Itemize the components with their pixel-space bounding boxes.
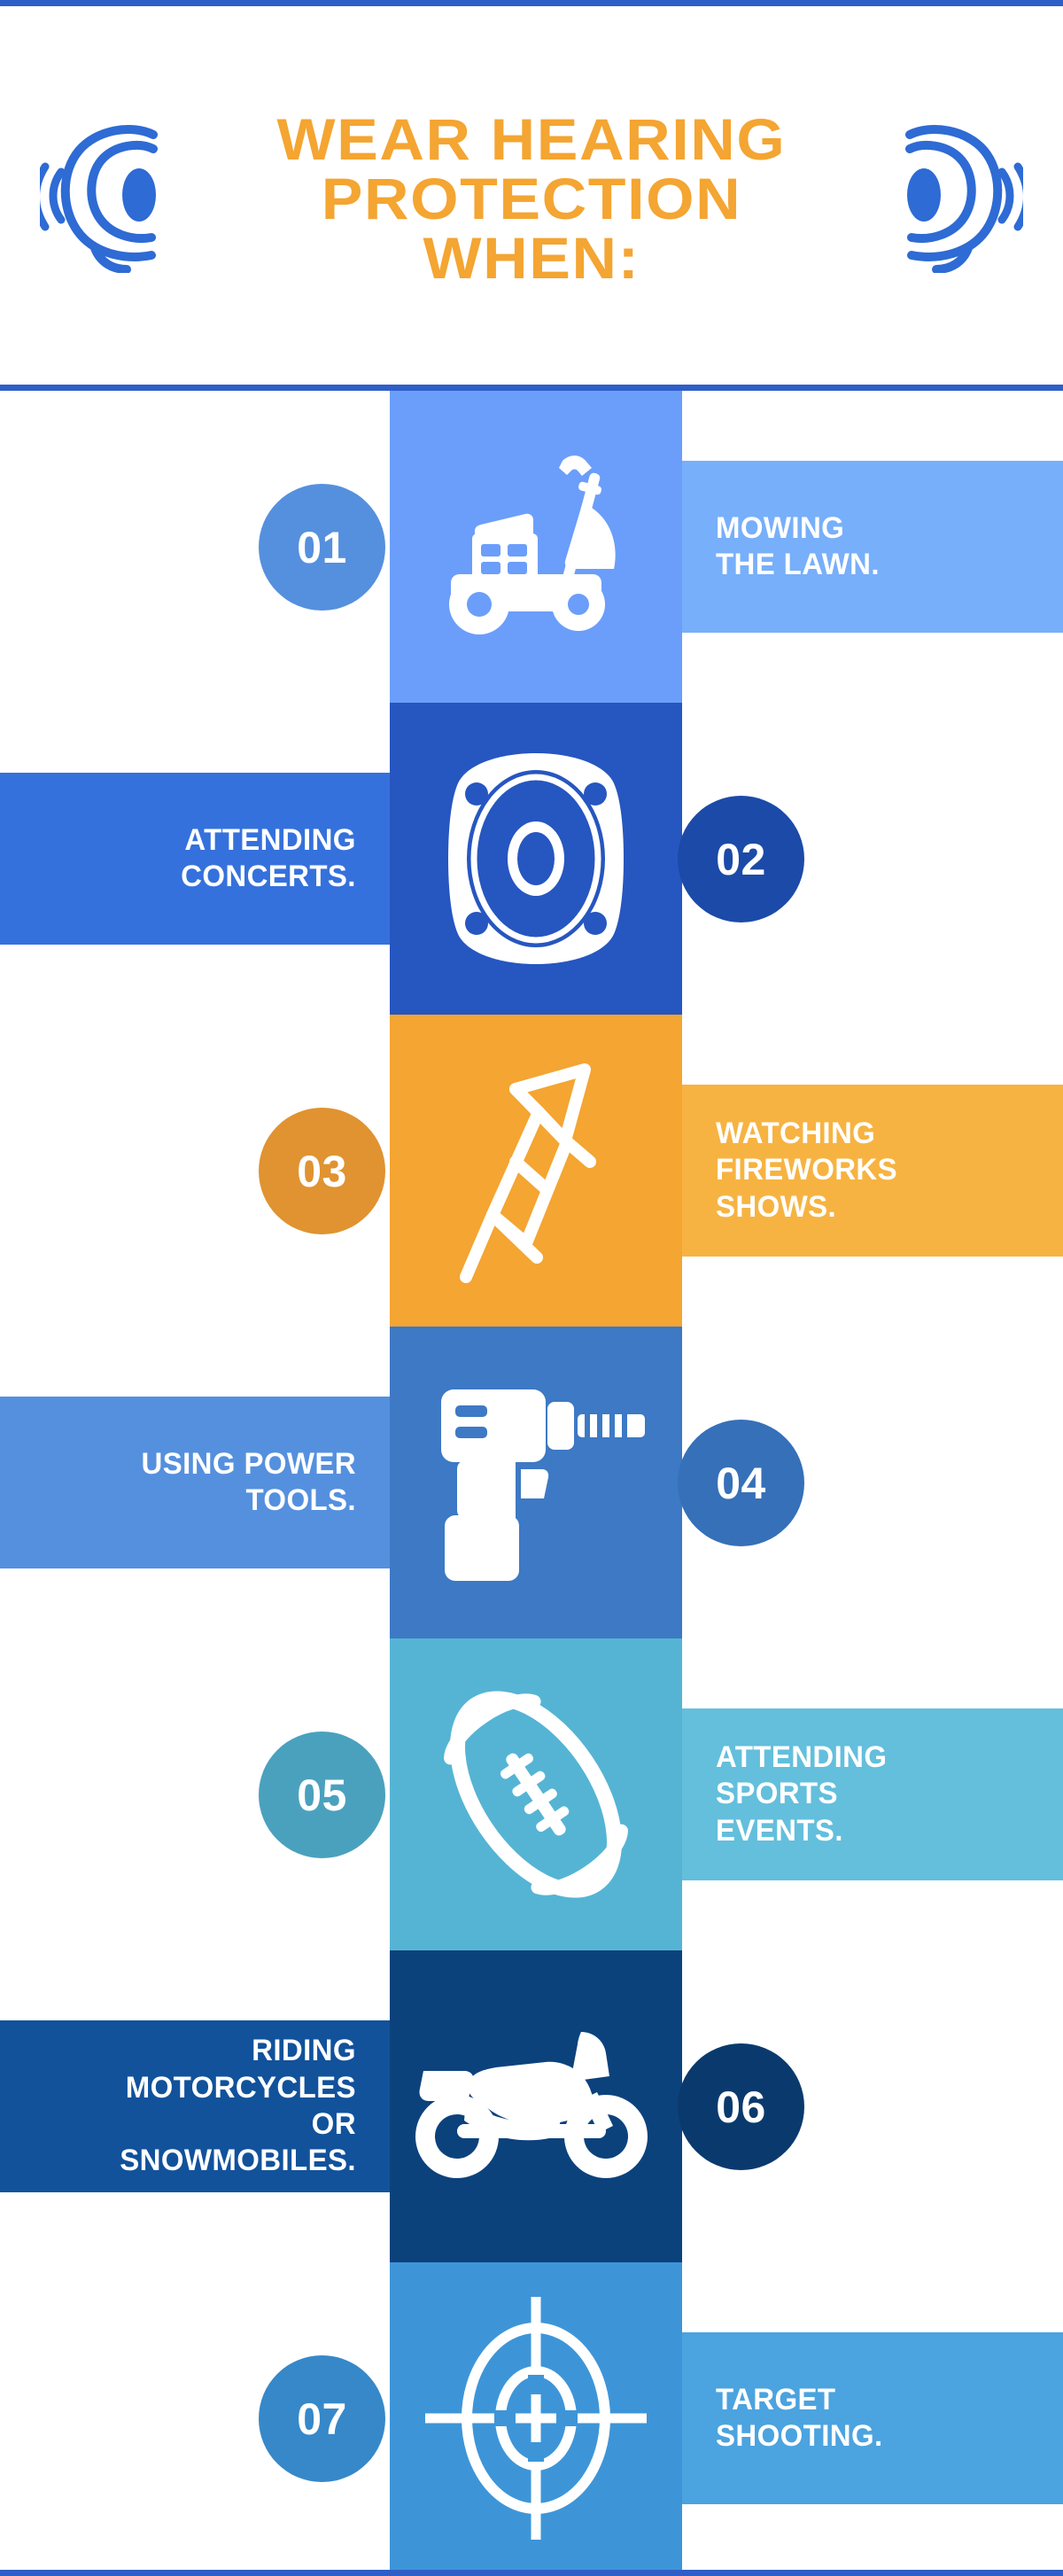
- row-label-band: USING POWER TOOLS.: [0, 1397, 390, 1568]
- power-drill-icon: [403, 1350, 669, 1615]
- row-label: WATCHING FIREWORKS SHOWS.: [716, 1116, 897, 1226]
- step-number: 03: [297, 1146, 347, 1197]
- row-label: USING POWER TOOLS.: [142, 1446, 356, 1520]
- list-item: 07 TARGET SHOOTING.: [0, 2262, 1063, 2574]
- step-number: 05: [297, 1770, 347, 1821]
- row-label-line: WATCHING: [716, 1116, 897, 1152]
- row-label-line: OR: [120, 2106, 356, 2143]
- football-icon: [403, 1662, 669, 1927]
- row-label-line: EVENTS.: [716, 1813, 887, 1849]
- row-label-line: TARGET: [716, 2382, 883, 2418]
- page-rule-bottom: [0, 2570, 1063, 2576]
- firework-rocket-icon: [403, 1038, 669, 1304]
- row-label-band: MOWING THE LAWN.: [682, 461, 1063, 633]
- list-item: 02 ATTENDING CONCERTS.: [0, 703, 1063, 1015]
- list-item: 03 WATCHING FIREWORKS SHOWS.: [0, 1015, 1063, 1327]
- step-number-badge: 01: [259, 484, 385, 611]
- row-label-band: TARGET SHOOTING.: [682, 2332, 1063, 2504]
- row-label-line: MOTORCYCLES: [120, 2070, 356, 2106]
- row-label-band: RIDING MOTORCYCLES OR SNOWMOBILES.: [0, 2020, 390, 2192]
- row-label-line: TOOLS.: [142, 1483, 356, 1519]
- row-icon-band: [390, 1638, 682, 1950]
- row-label-line: SPORTS: [716, 1776, 887, 1812]
- row-label-line: MOWING: [716, 510, 880, 547]
- row-label-band: WATCHING FIREWORKS SHOWS.: [682, 1085, 1063, 1257]
- row-label-line: CONCERTS.: [181, 859, 356, 895]
- row-label: TARGET SHOOTING.: [716, 2382, 883, 2455]
- step-number-badge: 04: [678, 1420, 804, 1546]
- row-icon-band: [390, 2262, 682, 2574]
- row-label-line: THE LAWN.: [716, 547, 880, 583]
- row-label: MOWING THE LAWN.: [716, 510, 880, 584]
- row-label-band: ATTENDING CONCERTS.: [0, 773, 390, 945]
- ear-hearing-icon: [40, 113, 173, 277]
- target-crosshair-icon: [403, 2285, 669, 2551]
- row-label-line: SHOWS.: [716, 1189, 897, 1226]
- row-icon-band: [390, 703, 682, 1015]
- step-number-badge: 06: [678, 2043, 804, 2170]
- list-item: 06 RIDING MOTORCYCLES OR SNOWMOBILES.: [0, 1950, 1063, 2262]
- list-item: 05 ATTENDING SPORTS EVENTS.: [0, 1638, 1063, 1950]
- header-divider-rule: [0, 385, 1063, 391]
- row-label-line: ATTENDING: [716, 1739, 887, 1776]
- row-label: ATTENDING CONCERTS.: [181, 822, 356, 896]
- row-label-line: SHOOTING.: [716, 2418, 883, 2455]
- step-number: 07: [297, 2393, 347, 2445]
- step-number: 01: [297, 522, 347, 573]
- motorcycle-icon: [403, 1973, 669, 2239]
- row-label-line: ATTENDING: [181, 822, 356, 859]
- step-number-badge: 07: [259, 2355, 385, 2482]
- title-line-1: WEAR HEARING: [175, 110, 888, 169]
- row-label-line: SNOWMOBILES.: [120, 2143, 356, 2179]
- ear-hearing-icon: [890, 113, 1023, 277]
- row-icon-band: [390, 1327, 682, 1638]
- row-label-band: ATTENDING SPORTS EVENTS.: [682, 1708, 1063, 1880]
- row-label: ATTENDING SPORTS EVENTS.: [716, 1739, 887, 1849]
- row-icon-band: [390, 1950, 682, 2262]
- row-label-line: USING POWER: [142, 1446, 356, 1483]
- row-label-line: FIREWORKS: [716, 1152, 897, 1188]
- list-item: 01 MOWING THE LAWN.: [0, 391, 1063, 703]
- right-ear-wrap: [868, 113, 1045, 277]
- list-item: 04 USING POWER TOOLS.: [0, 1327, 1063, 1638]
- step-number: 06: [716, 2082, 766, 2133]
- title-line-2: PROTECTION: [175, 169, 888, 229]
- step-number-badge: 03: [259, 1108, 385, 1234]
- lawn-mower-icon: [403, 414, 669, 680]
- row-icon-band: [390, 1015, 682, 1327]
- header-banner: WEAR HEARING PROTECTION WHEN:: [0, 6, 1063, 385]
- step-number-badge: 02: [678, 796, 804, 922]
- left-ear-wrap: [18, 113, 195, 277]
- speaker-icon: [403, 726, 669, 992]
- step-number: 04: [716, 1458, 766, 1509]
- step-number-badge: 05: [259, 1732, 385, 1858]
- page-title: WEAR HEARING PROTECTION WHEN:: [195, 103, 868, 289]
- page-rule-top: [0, 0, 1063, 6]
- title-line-3: WHEN:: [175, 229, 888, 288]
- row-label-line: RIDING: [120, 2033, 356, 2069]
- step-number: 02: [716, 834, 766, 885]
- row-icon-band: [390, 391, 682, 703]
- row-label: RIDING MOTORCYCLES OR SNOWMOBILES.: [120, 2033, 356, 2180]
